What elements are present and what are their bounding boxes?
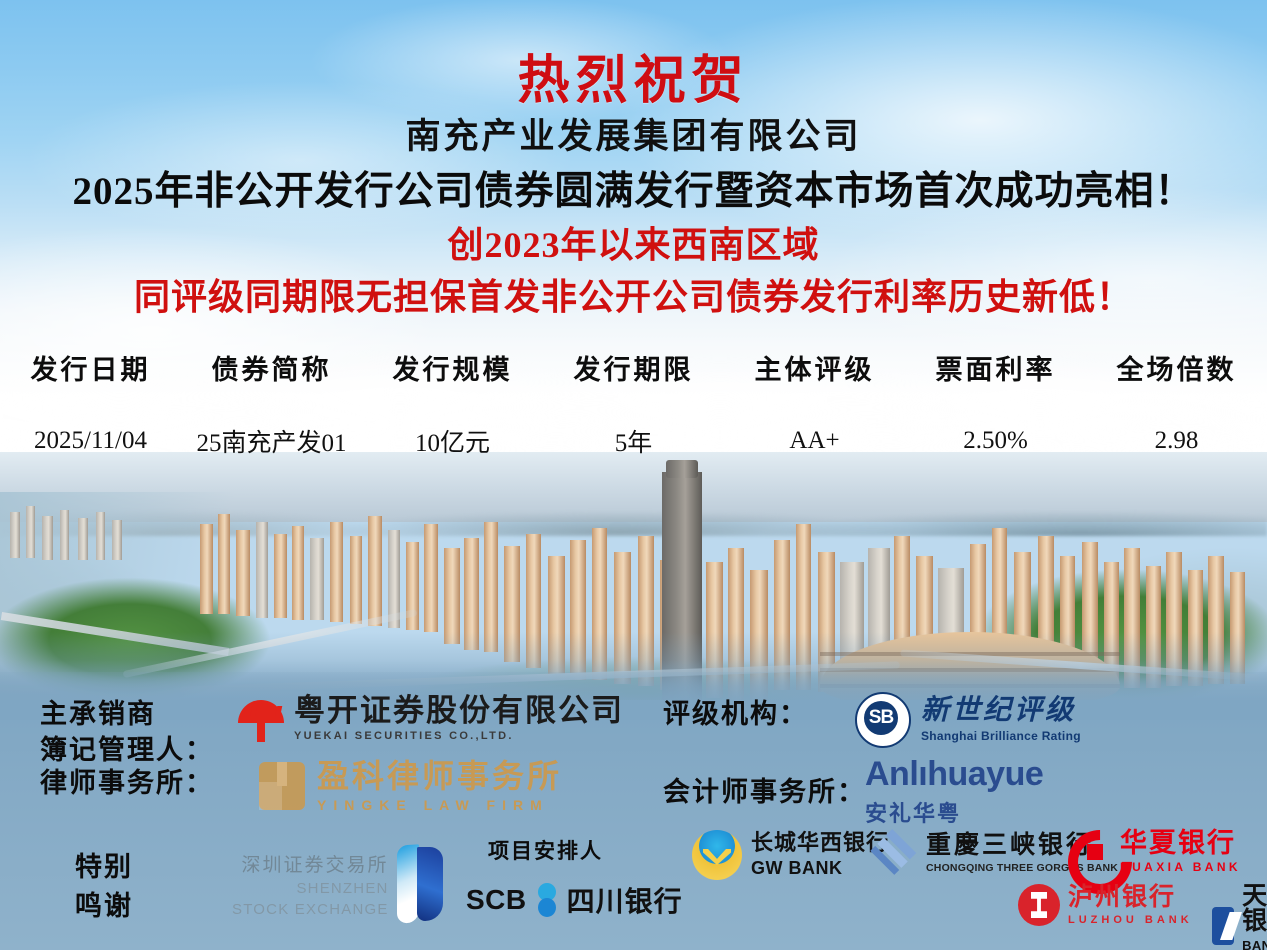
underwriter-label: 主承销商 簿记管理人： (40, 697, 214, 768)
col-subscription-multiple: 全场倍数 (1086, 348, 1267, 393)
yuekai-name-cn: 粤开证券股份有限公司 (294, 695, 624, 726)
table-header-row: 发行日期 债券简称 发行规模 发行期限 主体评级 票面利率 全场倍数 (0, 348, 1267, 393)
luzhou-bank-name-cn: 泸州银行 (1068, 885, 1193, 910)
huaxia-bank-mark-icon (1068, 830, 1112, 874)
building (444, 548, 460, 644)
col-bond-name: 债券简称 (181, 348, 362, 393)
sichuan-bank-logo: SCB 四川银行 (466, 880, 683, 920)
arranger-label: 项目安排人 (488, 838, 603, 866)
cell-issue-date: 2025/11/04 (0, 393, 181, 459)
building (292, 526, 304, 620)
col-tenor: 发行期限 (543, 348, 724, 393)
shanghai-brilliance-rating-logo: SB 新世纪评级 Shanghai Brilliance Rating (855, 692, 1081, 748)
szse-name-en-line1: SHENZHEN (232, 880, 389, 898)
landmark-crown (666, 460, 698, 478)
special-thanks-line1: 特别 (75, 848, 133, 887)
bank-of-tianjin-name-en: BANK OF TIANJIN (1242, 938, 1267, 950)
building (26, 506, 35, 558)
building (424, 524, 438, 632)
col-issue-date: 发行日期 (0, 348, 181, 393)
rating-agency-label: 评级机构： (663, 697, 808, 733)
building (96, 512, 105, 560)
yingke-cube-icon (255, 758, 309, 814)
luzhou-bank-name-en: LUZHOU BANK (1068, 914, 1193, 926)
building (310, 538, 324, 620)
yingke-law-firm-logo: 盈科律师事务所 YINGKE LAW FIRM (255, 758, 562, 814)
yingke-name-en: YINGKE LAW FIRM (317, 797, 562, 813)
col-coupon-rate: 票面利率 (905, 348, 1086, 393)
shenzhen-stock-exchange-logo: 深圳证券交易所 SHENZHEN STOCK EXCHANGE (232, 845, 443, 923)
headline-red-line-1: 创2023年以来西南区域 (0, 216, 1267, 268)
building (218, 514, 230, 614)
building (368, 516, 382, 626)
special-thanks-line2: 鸣谢 (75, 887, 133, 926)
bank-of-tianjin-mark-icon (1212, 907, 1234, 945)
cell-issue-size: 10亿元 (362, 393, 543, 459)
gw-bank-name-en: GW BANK (751, 858, 889, 879)
building (200, 524, 213, 614)
bank-of-tianjin-logo: 天津银行 BANK OF TIANJIN (1212, 884, 1267, 950)
col-issuer-rating: 主体评级 (724, 348, 905, 393)
table-row: 2025/11/04 25南充产发01 10亿元 5年 AA+ 2.50% 2.… (0, 393, 1267, 459)
congratulations-poster: 热烈祝贺 南充产业发展集团有限公司 2025年非公开发行公司债券圆满发行暨资本市… (0, 0, 1267, 950)
brilliance-name-en: Shanghai Brilliance Rating (921, 729, 1081, 743)
building (60, 510, 69, 560)
headline-red-line-2: 同评级同期限无担保首发非公开公司债券发行利率历史新低！ (0, 268, 1267, 320)
brilliance-seal-initials: SB (864, 701, 898, 735)
brilliance-seal-icon: SB (855, 692, 911, 748)
brilliance-name-cn: 新世纪评级 (921, 697, 1081, 725)
sichuan-bank-name-en: SCB (466, 884, 527, 916)
cell-subscription-multiple: 2.98 (1086, 393, 1267, 459)
col-issue-size: 发行规模 (362, 348, 543, 393)
luzhou-bank-logo: 泸州银行 LUZHOU BANK (1018, 884, 1193, 926)
building (42, 516, 53, 560)
underwriter-label-line1: 主承销商 (40, 697, 214, 733)
bank-of-tianjin-name-cn: 天津银行 (1242, 884, 1267, 934)
szse-mark-icon (397, 845, 443, 923)
yuekai-name-en: YUEKAI SECURITIES CO.,LTD. (294, 730, 624, 742)
anlihuayue-logo: Anlıhuayue 安礼华粤 (865, 757, 1043, 828)
building (10, 512, 20, 558)
sichuan-bank-name-cn: 四川银行 (567, 880, 683, 920)
szse-name-en-line2: STOCK EXCHANGE (232, 901, 389, 919)
congratulations-title: 热烈祝贺 (0, 38, 1267, 113)
building (274, 534, 287, 618)
building (78, 518, 88, 560)
special-thanks-label: 特别 鸣谢 (75, 848, 133, 926)
sichuan-bank-mark-icon (534, 883, 560, 917)
cell-coupon-rate: 2.50% (905, 393, 1086, 459)
gw-bank-mark-icon (692, 830, 742, 880)
gw-bank-logo: 长城华西银行 GW BANK (692, 830, 889, 880)
huaxia-bank-name-cn: 华夏银行 (1120, 830, 1241, 857)
szse-name-cn: 深圳证券交易所 (232, 850, 389, 877)
accounting-firm-label: 会计师事务所： (663, 775, 866, 811)
huaxia-bank-name-en: HUAXIA BANK (1120, 860, 1241, 874)
cell-issuer-rating: AA+ (724, 393, 905, 459)
building (330, 522, 343, 622)
building (256, 522, 268, 618)
anlihuayue-name-en: Anlıhuayue (865, 757, 1043, 791)
law-firm-label: 律师事务所： (40, 766, 214, 802)
building (350, 536, 362, 624)
building (236, 530, 250, 616)
luzhou-bank-mark-icon (1018, 884, 1060, 926)
bond-details-table: 发行日期 债券简称 发行规模 发行期限 主体评级 票面利率 全场倍数 2025/… (0, 348, 1267, 459)
headline-main: 2025年非公开发行公司债券圆满发行暨资本市场首次成功亮相！ (0, 160, 1267, 216)
yuekai-mark-icon (238, 694, 284, 742)
issuer-company-name: 南充产业发展集团有限公司 (0, 108, 1267, 159)
yingke-name-cn: 盈科律师事务所 (317, 760, 562, 792)
huaxia-bank-logo: 华夏银行 HUAXIA BANK (1068, 830, 1241, 874)
building (112, 520, 122, 560)
underwriter-label-line2: 簿记管理人： (40, 733, 214, 769)
cell-bond-name: 25南充产发01 (181, 393, 362, 459)
cell-tenor: 5年 (543, 393, 724, 459)
yuekai-securities-logo: 粤开证券股份有限公司 YUEKAI SECURITIES CO.,LTD. (238, 694, 624, 742)
